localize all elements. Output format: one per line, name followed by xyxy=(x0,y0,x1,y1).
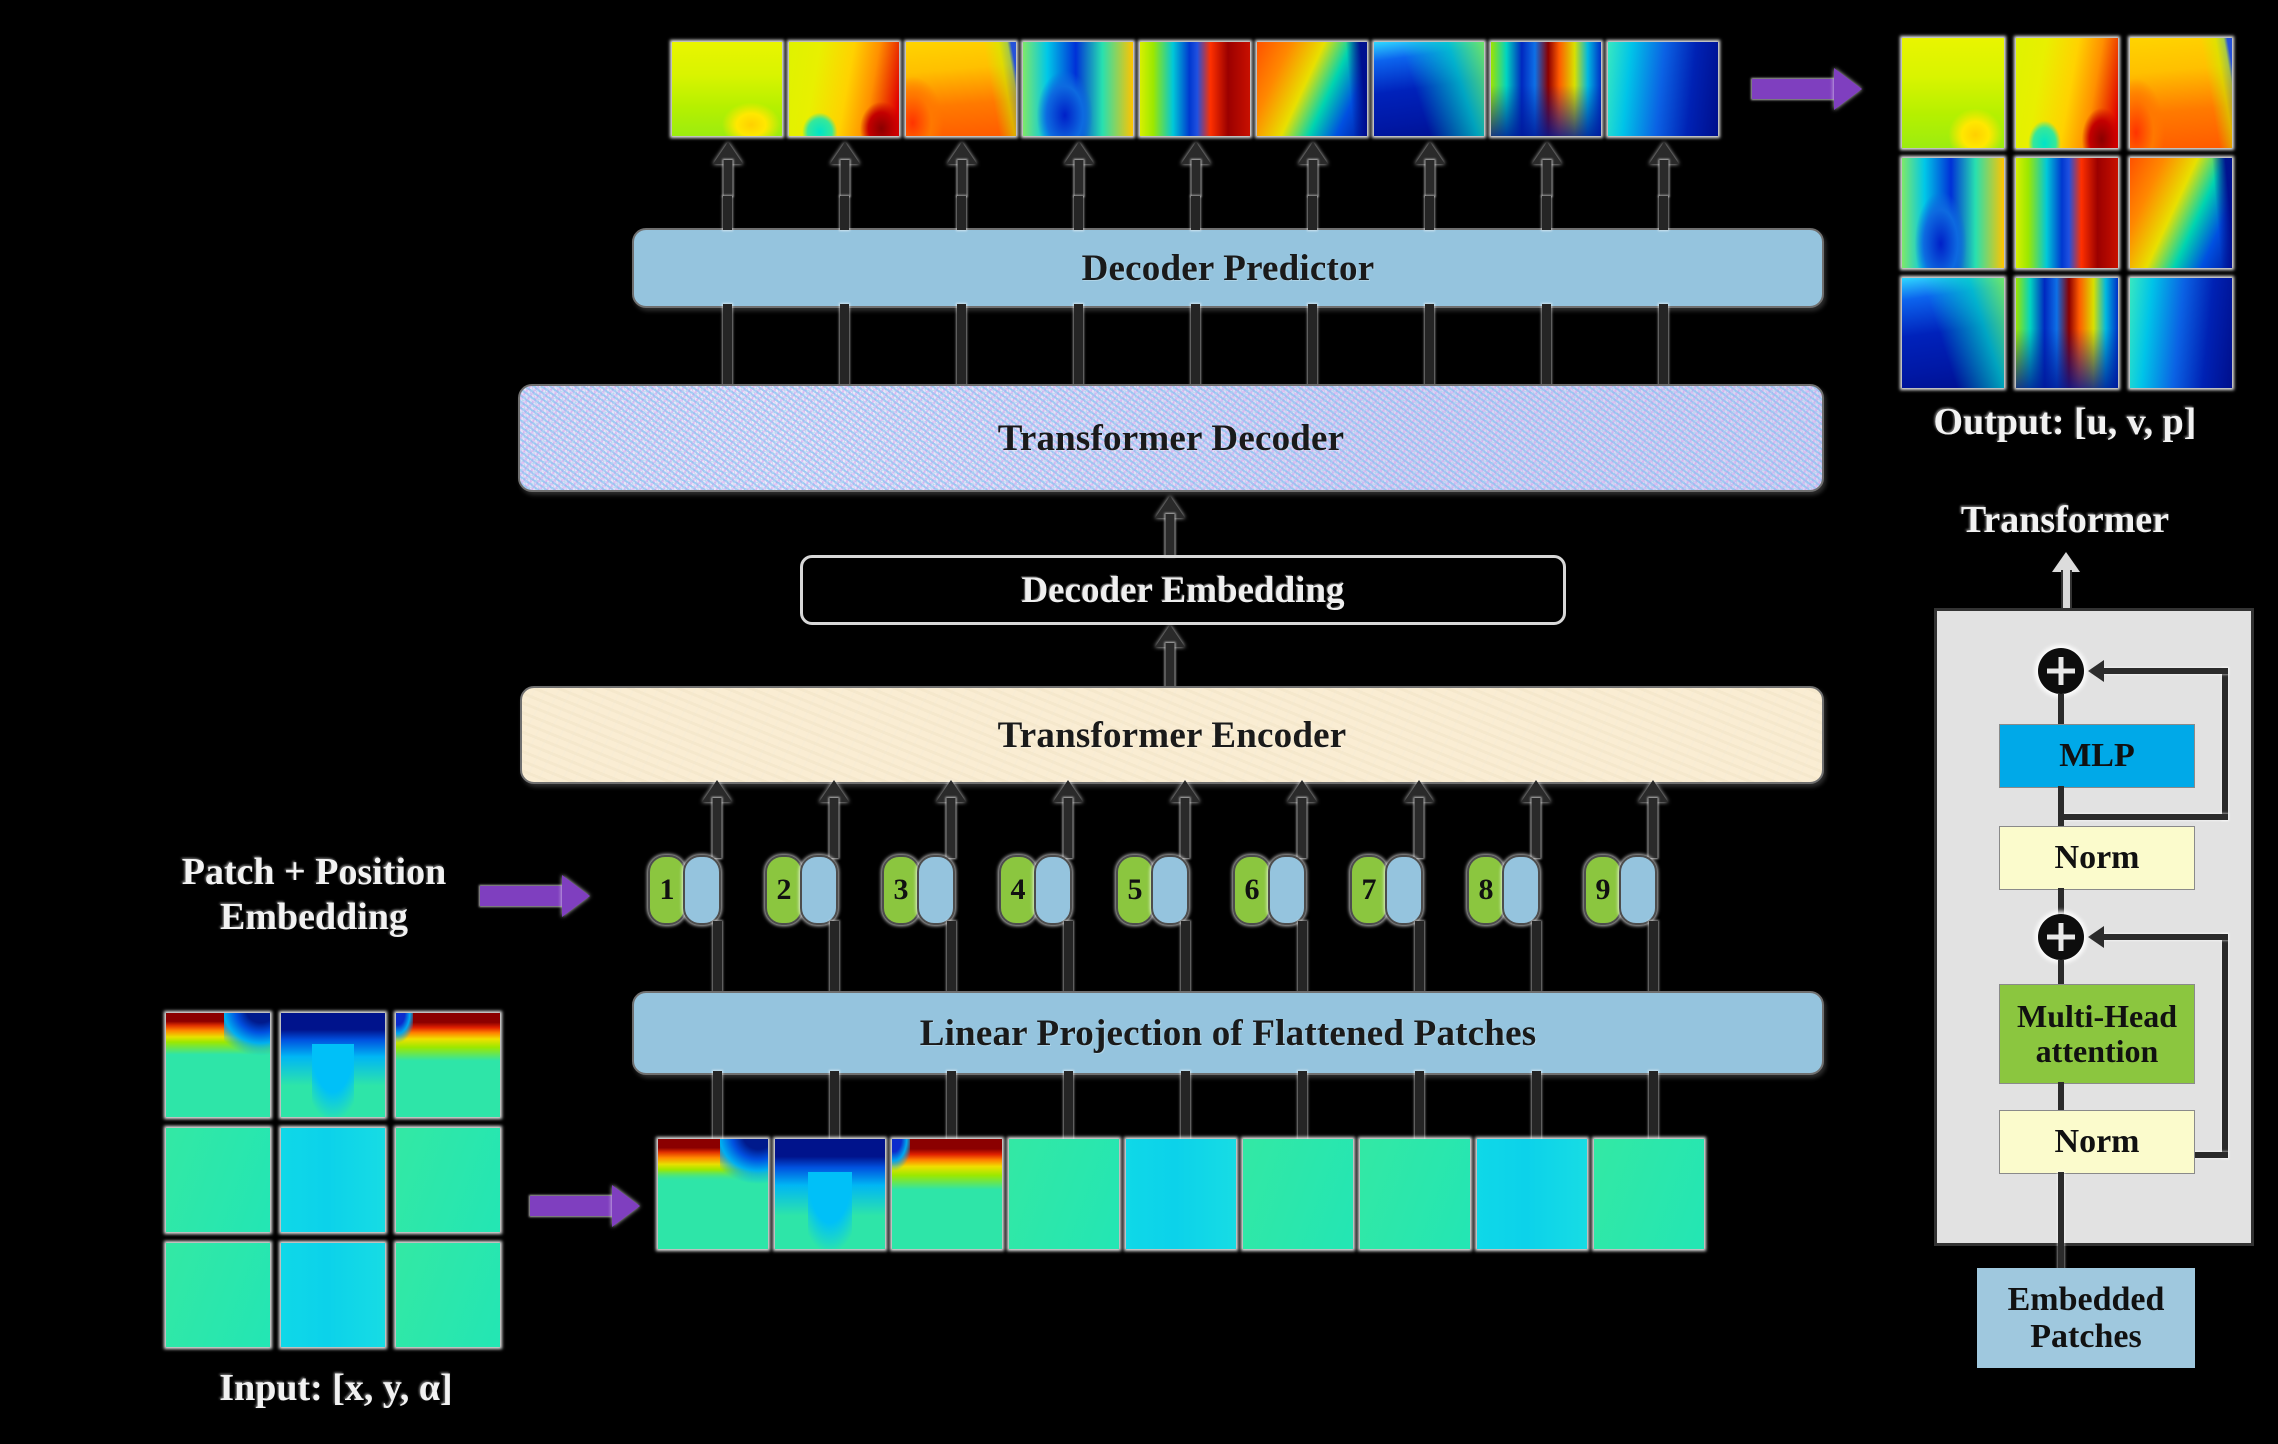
token-to-encoder-arrow-4 xyxy=(1051,780,1085,858)
connector-token-lp-1 xyxy=(713,921,722,991)
position-embedding-pill-2 xyxy=(800,855,838,925)
connector-predictor-top-7 xyxy=(1425,196,1434,230)
connector-token-lp-6 xyxy=(1298,921,1307,991)
input-patch-strip-tile-3 xyxy=(892,1139,1002,1249)
input-patch-strip-tile-5 xyxy=(1126,1139,1236,1249)
residual-line-top-horizontal xyxy=(2100,668,2228,674)
input-grid-tile-5 xyxy=(281,1128,385,1232)
connector-predictor-4 xyxy=(1074,304,1083,388)
connector-add-top-to-mlp xyxy=(2058,694,2064,724)
norm-bottom-block[interactable]: Norm xyxy=(1999,1110,2195,1174)
output-arrow-2 xyxy=(830,142,860,196)
residual-line-top-bottom xyxy=(2064,814,2228,820)
token-to-encoder-arrow-2 xyxy=(817,780,851,858)
patch-token-7[interactable]: 7 xyxy=(1350,855,1423,925)
connector-predictor-top-5 xyxy=(1191,196,1200,230)
output-patch-strip-tile-3 xyxy=(906,42,1016,136)
decoder-embedding-block[interactable]: Decoder Embedding xyxy=(800,555,1566,625)
input-to-patches-arrow xyxy=(530,1185,640,1227)
connector-lp-patch-5 xyxy=(1181,1071,1190,1145)
connector-predictor-7 xyxy=(1425,304,1434,388)
position-embedding-pill-4 xyxy=(1034,855,1072,925)
input-grid-tile-2 xyxy=(281,1013,385,1117)
input-patch-strip-tile-1 xyxy=(658,1139,768,1249)
patch-position-embedding-label: Patch + Position Embedding xyxy=(94,850,534,940)
connector-predictor-top-9 xyxy=(1659,196,1668,230)
output-grid-tile-6 xyxy=(2130,158,2232,268)
output-grid-tile-3 xyxy=(2130,38,2232,148)
connector-mlp-to-norm-top xyxy=(2058,786,2064,826)
norm-bottom-label: Norm xyxy=(2055,1123,2140,1160)
patch-position-embedding-line1: Patch + Position xyxy=(94,850,534,895)
transformer-encoder-label: Transformer Encoder xyxy=(998,714,1347,757)
decoder-predictor-label: Decoder Predictor xyxy=(1082,247,1375,290)
multi-head-attention-block[interactable]: Multi-Head attention xyxy=(1999,984,2195,1084)
connector-predictor-top-4 xyxy=(1074,196,1083,230)
mlp-label: MLP xyxy=(2059,737,2135,774)
patch-position-embedding-line2: Embedding xyxy=(94,895,534,940)
patch-token-1[interactable]: 1 xyxy=(648,855,721,925)
connector-token-lp-9 xyxy=(1649,921,1658,991)
connector-token-lp-4 xyxy=(1064,921,1073,991)
connector-predictor-top-3 xyxy=(957,196,966,230)
connector-predictor-top-2 xyxy=(840,196,849,230)
output-grid-tile-7 xyxy=(1902,278,2004,388)
output-patch-strip-tile-1 xyxy=(672,42,782,136)
output-patch-strip-tile-7 xyxy=(1374,42,1484,136)
token-to-encoder-arrow-5 xyxy=(1168,780,1202,858)
output-grid-tile-5 xyxy=(2016,158,2118,268)
output-arrow-9 xyxy=(1649,142,1679,196)
embedded-patches-label-line1: Embedded xyxy=(2008,1281,2165,1318)
connector-lp-patch-8 xyxy=(1532,1071,1541,1145)
connector-predictor-6 xyxy=(1308,304,1317,388)
output-patch-strip-tile-2 xyxy=(789,42,899,136)
norm-top-label: Norm xyxy=(2055,839,2140,876)
input-grid-tile-1 xyxy=(166,1013,270,1117)
patch-token-8[interactable]: 8 xyxy=(1467,855,1540,925)
mlp-block[interactable]: MLP xyxy=(1999,724,2195,788)
output-patch-strip-tile-6 xyxy=(1257,42,1367,136)
decoder-embedding-to-decoder-arrow xyxy=(1155,496,1185,556)
patch-token-index-9: 9 xyxy=(1584,855,1622,925)
input-patch-strip-tile-6 xyxy=(1243,1139,1353,1249)
multi-head-attention-label-line2: attention xyxy=(2036,1034,2159,1069)
output-grid-tile-1 xyxy=(1902,38,2004,148)
input-patch-strip-tile-4 xyxy=(1009,1139,1119,1249)
output-patch-strip-tile-4 xyxy=(1023,42,1133,136)
input-grid-tile-8 xyxy=(281,1243,385,1347)
position-embedding-pill-7 xyxy=(1385,855,1423,925)
connector-lp-patch-3 xyxy=(947,1071,956,1145)
input-patch-strip-tile-8 xyxy=(1477,1139,1587,1249)
output-grid-tile-4 xyxy=(1902,158,2004,268)
connector-predictor-3 xyxy=(957,304,966,388)
patch-token-index-1: 1 xyxy=(648,855,686,925)
encoder-to-decoder-embedding-arrow xyxy=(1155,625,1185,687)
output-arrow-4 xyxy=(1064,142,1094,196)
output-label: Output: [u, v, p] xyxy=(1890,400,2240,445)
residual-line-bottom-horizontal xyxy=(2100,934,2228,940)
transformer-encoder-block[interactable]: Transformer Encoder xyxy=(520,686,1824,784)
output-arrow-3 xyxy=(947,142,977,196)
patch-token-6[interactable]: 6 xyxy=(1233,855,1306,925)
input-grid-tile-3 xyxy=(396,1013,500,1117)
position-embedding-pill-6 xyxy=(1268,855,1306,925)
connector-lp-patch-4 xyxy=(1064,1071,1073,1145)
patch-token-index-2: 2 xyxy=(765,855,803,925)
connector-embedded-patches-to-norm xyxy=(2058,1172,2064,1272)
patch-token-5[interactable]: 5 xyxy=(1116,855,1189,925)
patch-token-3[interactable]: 3 xyxy=(882,855,955,925)
embedded-patches-label-line2: Patches xyxy=(2030,1318,2141,1355)
connector-token-lp-8 xyxy=(1532,921,1541,991)
token-to-encoder-arrow-8 xyxy=(1519,780,1553,858)
patch-token-4[interactable]: 4 xyxy=(999,855,1072,925)
input-grid-tile-4 xyxy=(166,1128,270,1232)
output-patch-strip-tile-8 xyxy=(1491,42,1601,136)
patch-token-index-7: 7 xyxy=(1350,855,1388,925)
patch-token-9[interactable]: 9 xyxy=(1584,855,1657,925)
connector-predictor-1 xyxy=(723,304,732,388)
residual-line-bottom-vertical xyxy=(2222,934,2228,1158)
connector-predictor-2 xyxy=(840,304,849,388)
connector-predictor-9 xyxy=(1659,304,1668,388)
patch-token-index-6: 6 xyxy=(1233,855,1271,925)
transformer-block-title: Transformer xyxy=(1890,498,2240,543)
output-arrow-7 xyxy=(1415,142,1445,196)
linear-projection-label: Linear Projection of Flattened Patches xyxy=(920,1012,1537,1055)
norm-top-block[interactable]: Norm xyxy=(1999,826,2195,890)
patch-token-index-8: 8 xyxy=(1467,855,1505,925)
patch-token-index-3: 3 xyxy=(882,855,920,925)
input-patch-strip-tile-9 xyxy=(1594,1139,1704,1249)
output-arrow-6 xyxy=(1298,142,1328,196)
multi-head-attention-label-line1: Multi-Head xyxy=(2017,999,2177,1034)
connector-add-bottom-to-mha xyxy=(2058,960,2064,984)
residual-add-bottom xyxy=(2038,914,2084,960)
output-purple-arrow xyxy=(1752,68,1862,110)
residual-arrow-bottom xyxy=(2088,926,2104,948)
transformer-decoder-label: Transformer Decoder xyxy=(998,417,1345,460)
output-patch-strip-tile-9 xyxy=(1608,42,1718,136)
connector-predictor-5 xyxy=(1191,304,1200,388)
patch-position-embedding-arrow xyxy=(480,875,590,917)
connector-lp-patch-6 xyxy=(1298,1071,1307,1145)
output-grid-tile-9 xyxy=(2130,278,2232,388)
embedded-patches-block[interactable]: Embedded Patches xyxy=(1977,1268,2195,1368)
connector-token-lp-3 xyxy=(947,921,956,991)
connector-lp-patch-7 xyxy=(1415,1071,1424,1145)
input-patch-strip-tile-7 xyxy=(1360,1139,1470,1249)
decoder-predictor-block[interactable]: Decoder Predictor xyxy=(632,228,1824,308)
token-to-encoder-arrow-3 xyxy=(934,780,968,858)
connector-predictor-8 xyxy=(1542,304,1551,388)
connector-token-lp-7 xyxy=(1415,921,1424,991)
connector-mha-to-norm-bottom xyxy=(2058,1082,2064,1110)
position-embedding-pill-5 xyxy=(1151,855,1189,925)
input-grid-tile-6 xyxy=(396,1128,500,1232)
decoder-embedding-label: Decoder Embedding xyxy=(1021,569,1344,612)
connector-lp-patch-1 xyxy=(713,1071,722,1145)
connector-predictor-top-1 xyxy=(723,196,732,230)
patch-token-index-4: 4 xyxy=(999,855,1037,925)
output-grid-tile-2 xyxy=(2016,38,2118,148)
output-arrow-1 xyxy=(713,142,743,196)
connector-token-lp-2 xyxy=(830,921,839,991)
position-embedding-pill-1 xyxy=(683,855,721,925)
position-embedding-pill-8 xyxy=(1502,855,1540,925)
output-grid-tile-8 xyxy=(2016,278,2118,388)
input-grid-tile-7 xyxy=(166,1243,270,1347)
token-to-encoder-arrow-6 xyxy=(1285,780,1319,858)
residual-line-top-vertical xyxy=(2222,668,2228,820)
connector-predictor-top-8 xyxy=(1542,196,1551,230)
connector-token-lp-5 xyxy=(1181,921,1190,991)
residual-add-top xyxy=(2038,648,2084,694)
connector-predictor-top-6 xyxy=(1308,196,1317,230)
patch-token-index-5: 5 xyxy=(1116,855,1154,925)
input-patch-strip-tile-2 xyxy=(775,1139,885,1249)
position-embedding-pill-3 xyxy=(917,855,955,925)
input-label: Input: [x, y, α] xyxy=(146,1366,526,1411)
token-to-encoder-arrow-7 xyxy=(1402,780,1436,858)
transformer-decoder-block[interactable]: Transformer Decoder xyxy=(518,384,1824,492)
patch-token-2[interactable]: 2 xyxy=(765,855,838,925)
output-arrow-8 xyxy=(1532,142,1562,196)
residual-arrow-top xyxy=(2088,660,2104,682)
linear-projection-block[interactable]: Linear Projection of Flattened Patches xyxy=(632,991,1824,1075)
token-to-encoder-arrow-1 xyxy=(700,780,734,858)
token-to-encoder-arrow-9 xyxy=(1636,780,1670,858)
output-patch-strip-tile-5 xyxy=(1140,42,1250,136)
connector-lp-patch-2 xyxy=(830,1071,839,1145)
position-embedding-pill-9 xyxy=(1619,855,1657,925)
connector-lp-patch-9 xyxy=(1649,1071,1658,1145)
input-grid-tile-9 xyxy=(396,1243,500,1347)
output-arrow-5 xyxy=(1181,142,1211,196)
